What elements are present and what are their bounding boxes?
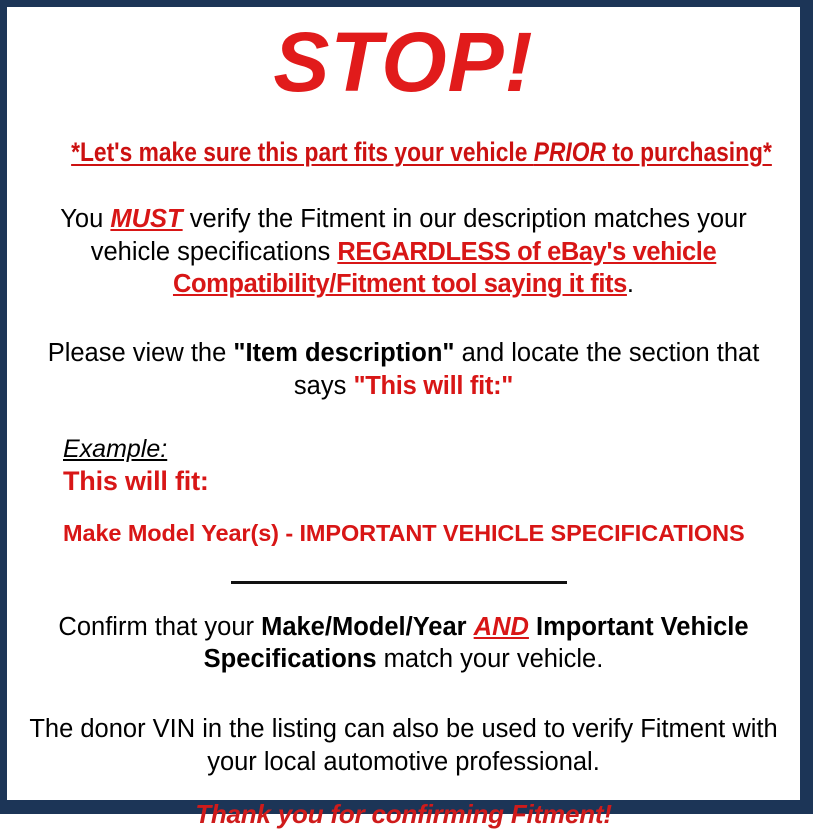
- page-title: STOP!: [17, 7, 790, 104]
- horizontal-divider: [231, 581, 567, 584]
- example-fit-line: This will fit:: [63, 466, 790, 497]
- p1-seg1: You: [60, 205, 110, 233]
- example-label-row: Example:: [63, 436, 790, 464]
- p3-seg1: Confirm that your: [58, 613, 261, 641]
- closing-thanks: Thank you for confirming Fitment!: [17, 778, 790, 829]
- p3-seg5: match your vehicle.: [377, 645, 604, 673]
- paragraph-item-description: Please view the "Item description" and l…: [29, 301, 779, 402]
- p2-seg1: Please view the: [48, 339, 234, 367]
- p2-this-will-fit-red: "This will fit:": [353, 372, 513, 400]
- paragraph-verify-fitment: You MUST verify the Fitment in our descr…: [29, 167, 779, 301]
- p2-item-description-bold: "Item description": [233, 339, 454, 367]
- divider-wrap: [17, 547, 790, 589]
- p1-must-emphasis: MUST: [110, 205, 182, 233]
- example-label: Example:: [63, 436, 167, 464]
- p1-seg5: .: [627, 270, 634, 298]
- example-block: Example: This will fit: Make Model Year(…: [17, 402, 790, 546]
- paragraph-donor-vin: The donor VIN in the listing can also be…: [29, 676, 779, 778]
- paragraph-confirm-match: Confirm that your Make/Model/Year AND Im…: [29, 589, 779, 676]
- tagline-emphasis: PRIOR: [534, 137, 606, 167]
- fitment-notice-card: STOP! *Let's make sure this part fits yo…: [0, 0, 813, 814]
- p3-make-model-year-bold: Make/Model/Year: [261, 613, 474, 641]
- tagline-prefix: *Let's make sure this part fits your veh…: [71, 137, 534, 167]
- tagline: *Let's make sure this part fits your veh…: [71, 104, 736, 167]
- tagline-suffix: to purchasing*: [606, 137, 772, 167]
- example-spec-line: Make Model Year(s) - IMPORTANT VEHICLE S…: [63, 521, 790, 547]
- p3-and-emphasis: AND: [474, 613, 529, 641]
- notice-content: STOP! *Let's make sure this part fits yo…: [7, 7, 800, 800]
